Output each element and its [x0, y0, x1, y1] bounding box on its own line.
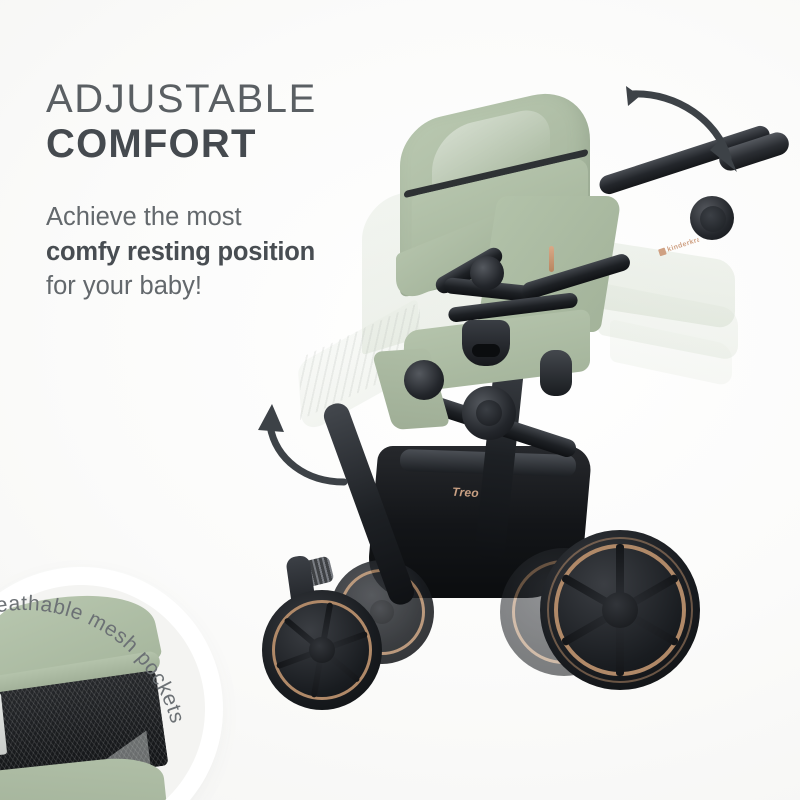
seat-mount-bracket: [540, 350, 572, 396]
bumper-bar-joint: [470, 256, 504, 290]
zipper-pull: [549, 246, 554, 272]
bumper-bar-latch: [462, 320, 510, 366]
brand-wordmark-text: kinderkraft: [667, 235, 701, 254]
footrest-joint: [404, 360, 444, 400]
mesh-pocket-inset: [0, 576, 214, 800]
brand-mark-icon: [658, 247, 667, 256]
recline-down-arrow: [600, 72, 780, 192]
product-feature-banner: ADJUSTABLE COMFORT Achieve the most comf…: [0, 0, 800, 800]
front-wheel: [262, 590, 382, 710]
handlebar-pivot-button: [700, 206, 726, 232]
rear-wheel: [540, 530, 700, 690]
fold-hinge-center: [476, 400, 502, 426]
recline-up-arrow: [248, 394, 368, 490]
